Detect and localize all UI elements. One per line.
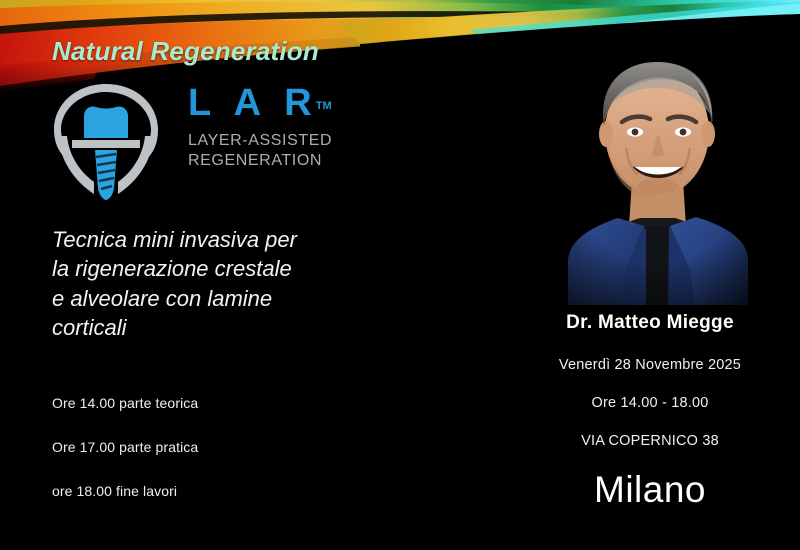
description-line-1: Tecnica mini invasiva per [52,225,382,254]
course-description: Tecnica mini invasiva per la rigenerazio… [52,225,382,342]
lar-tagline-line-1: LAYER-ASSISTED [188,131,368,151]
schedule-item: Ore 17.00 parte pratica [52,439,382,455]
event-flyer: Natural Regeneration [0,0,800,550]
schedule-list: Ore 14.00 parte teorica Ore 17.00 parte … [52,395,382,499]
speaker-name: Dr. Matteo Miegge [500,312,800,334]
lar-tagline-line-2: REGENERATION [188,151,368,171]
event-date: Venerdì 28 Novembre 2025 [500,357,800,373]
description-line-4: corticali [52,313,382,342]
schedule-item: Ore 14.00 parte teorica [52,395,382,411]
event-city: Milano [500,471,800,508]
lar-wordmark: L A R [188,84,319,122]
lar-wordmark-block: L A RTM LAYER-ASSISTED REGENERATION [188,84,368,172]
speaker-portrait-photo [540,30,775,305]
event-time: Ore 14.00 - 18.00 [500,395,800,411]
lar-logo: L A RTM LAYER-ASSISTED REGENERATION [48,78,338,204]
description-line-3: e alveolare con lamine [52,284,382,313]
event-address: VIA COPERNICO 38 [500,433,800,449]
page-title: Natural Regeneration [52,36,319,67]
lar-dental-implant-logo-icon [48,78,164,204]
description-line-2: la rigenerazione crestale [52,254,382,283]
schedule-item: ore 18.00 fine lavori [52,483,382,499]
lar-tagline: LAYER-ASSISTED REGENERATION [188,131,368,172]
event-details: Dr. Matteo Miegge Venerdì 28 Novembre 20… [500,312,800,508]
